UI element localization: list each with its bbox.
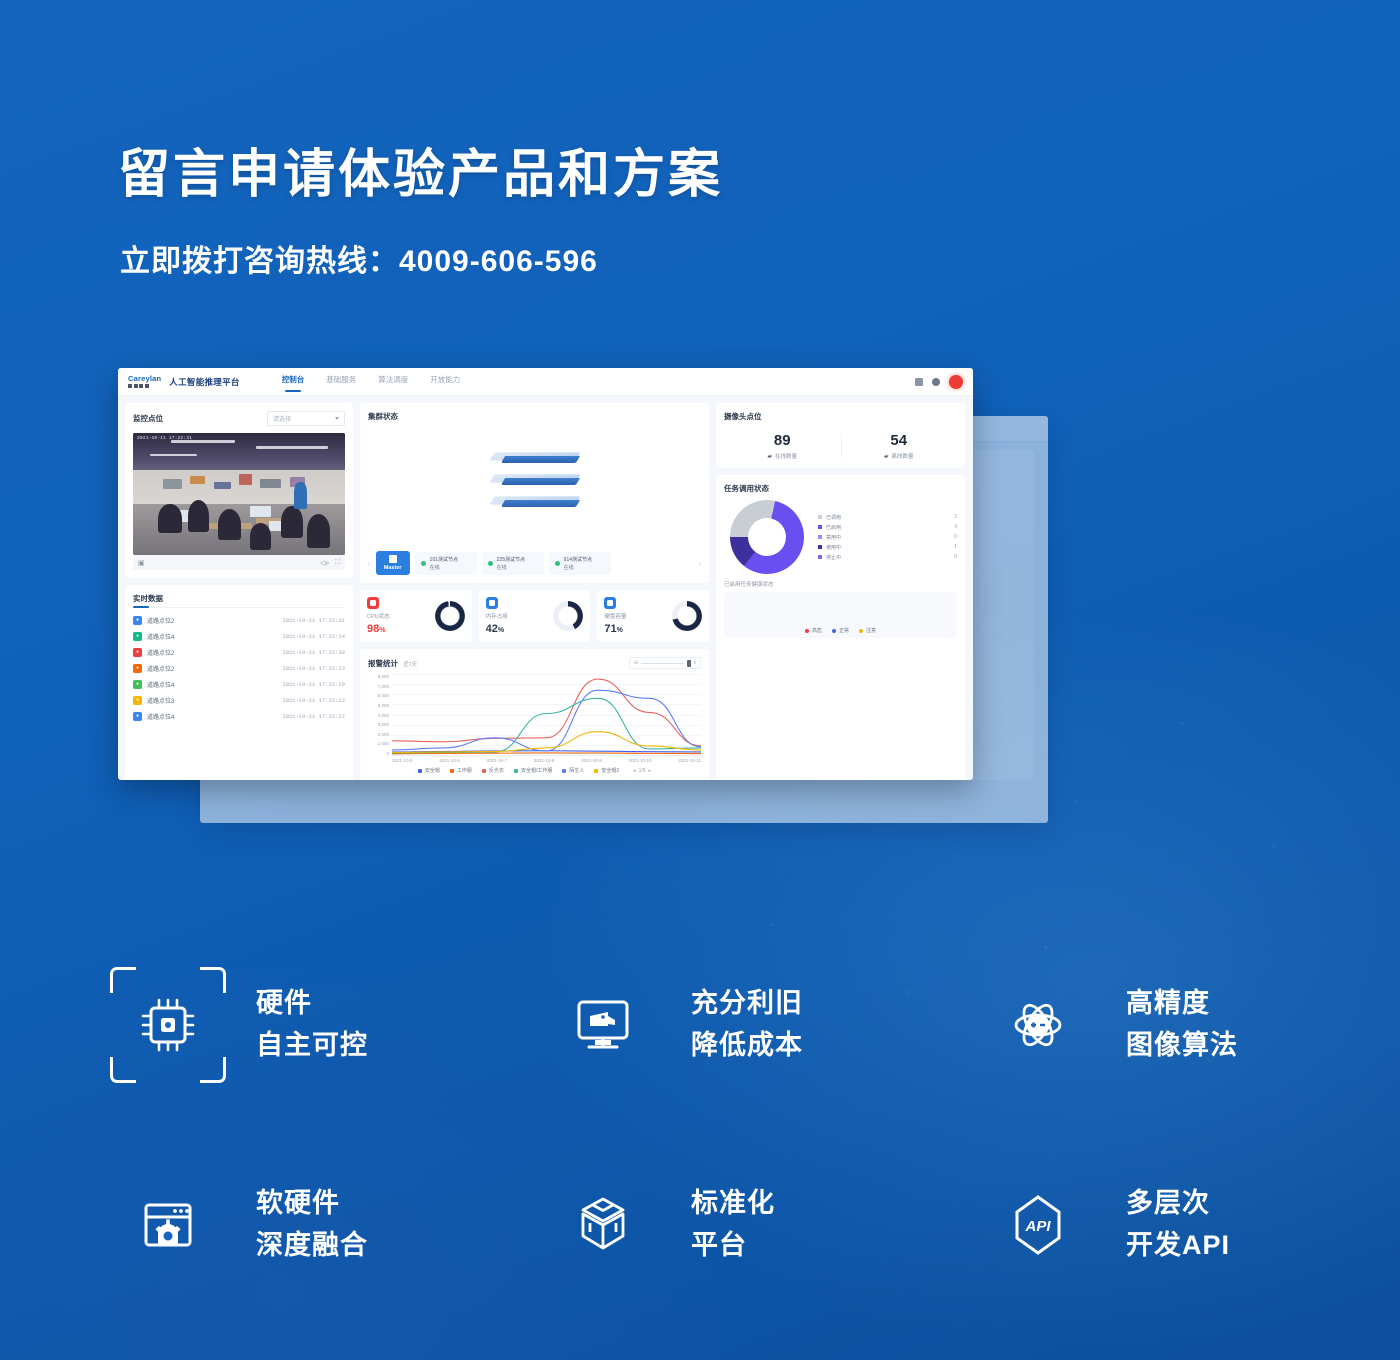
cube-icon	[545, 1167, 661, 1283]
axis-tick-label: 3,000	[368, 722, 389, 727]
chart-series-line	[392, 679, 701, 746]
task-status-panel: 任务调用状态 已调用2已启用4禁用中0使用中1停止中0 已启用任务健康状态 高危…	[716, 475, 965, 780]
legend-item[interactable]: 安全帽/工作服	[514, 767, 552, 774]
stat-block: 89▰在线数量	[724, 432, 841, 460]
legend-swatch	[818, 535, 822, 539]
cluster-panel: 集群状态 ‹Master101测试节点在线225测试节点在线914测试节点在线›	[360, 403, 709, 583]
legend-label: 工作服	[457, 767, 472, 774]
feature-line2: 自主可控	[256, 1025, 368, 1067]
task-donut-legend: 已调用2已启用4禁用中0使用中1停止中0	[818, 512, 957, 562]
legend-value: 4	[954, 524, 957, 530]
feature-item-integration: 软硬件 深度融合	[110, 1125, 545, 1325]
feature-line2: 深度融合	[256, 1225, 368, 1267]
feature-line1: 充分利旧	[691, 983, 803, 1025]
nav-item-openapi[interactable]: 开放能力	[430, 374, 460, 390]
list-item-label: 道路点位2	[147, 616, 174, 625]
node-label: 225测试节点	[497, 556, 525, 563]
axis-tick-label: 7,000	[368, 684, 389, 689]
cluster-node-master[interactable]: Master	[376, 551, 410, 575]
person-icon: ●	[133, 616, 142, 625]
legend-label: 正常	[839, 627, 849, 634]
list-item-time: 2021-10-11 17:22:27	[282, 713, 345, 720]
legend-label: 反光衣	[489, 767, 504, 774]
list-item-label: 道路点位2	[147, 664, 174, 673]
realtime-title: 实时数据	[133, 593, 345, 604]
feature-line2: 图像算法	[1126, 1025, 1238, 1067]
legend-swatch	[859, 629, 863, 633]
product-screenshot: Careylan 人工智能推理平台 控制台 基础服务 算法调度 开放能力	[118, 368, 1048, 823]
stat-value: 54	[841, 432, 958, 449]
chart-x-axis: 2021-10-52021-10-62021-10-72021-10-82021…	[392, 758, 701, 763]
health-legend: 高危正常注意	[724, 627, 957, 634]
realtime-panel: 实时数据 ●道路点位22021-10-11 17:22:31●道路点位42021…	[125, 585, 353, 780]
monitor-panel: 监控点位 请选择	[125, 403, 353, 578]
close-icon[interactable]	[949, 375, 963, 389]
cluster-node[interactable]: 101测试节点在线	[415, 552, 477, 575]
metrics-row: CPU状态98%内存占用42%硬盘容量71%	[360, 590, 709, 642]
camera-monitor-icon	[545, 967, 661, 1083]
feature-grid: 硬件 自主可控 充分利旧	[110, 925, 1290, 1325]
legend-swatch	[805, 629, 809, 633]
task-status-title: 任务调用状态	[724, 483, 957, 494]
list-item-label: 道路点位3	[147, 696, 174, 705]
app-window: Careylan 人工智能推理平台 控制台 基础服务 算法调度 开放能力	[118, 368, 973, 780]
axis-tick-label: 1,000	[368, 741, 389, 746]
list-item-time: 2021-10-11 17:22:30	[282, 649, 345, 656]
cluster-node[interactable]: 914测试节点在线	[549, 552, 611, 575]
feature-line2: 降低成本	[691, 1025, 803, 1067]
metric-label: 硬盘容量	[604, 612, 626, 620]
legend-swatch	[514, 769, 518, 773]
feature-item-api: API 多层次 开发API	[980, 1125, 1290, 1325]
legend-swatch	[482, 769, 486, 773]
list-item[interactable]: ●道路点位22021-10-11 17:22:30	[133, 644, 345, 660]
legend-item[interactable]: 反光衣	[482, 767, 504, 774]
feature-line1: 高精度	[1126, 983, 1238, 1025]
axis-tick-label: 2021-10-11	[678, 758, 701, 763]
maximize-icon[interactable]	[932, 378, 940, 386]
list-item-label: 道路点位2	[147, 648, 174, 657]
legend-item[interactable]: 工作服	[450, 767, 472, 774]
select-value: 请选择	[273, 414, 291, 423]
legend-label: 高危	[812, 627, 822, 634]
list-item[interactable]: ●道路点位22021-10-11 17:22:31	[133, 612, 345, 628]
node-label: 914测试节点	[564, 556, 592, 563]
legend-item: 使用中1	[818, 542, 957, 552]
legend-label: 安全帽	[425, 767, 440, 774]
vehicle-icon: ●	[133, 680, 142, 689]
snapshot-icon[interactable]: ▣	[138, 559, 145, 567]
list-item[interactable]: ●道路点位22021-10-11 17:22:23	[133, 660, 345, 676]
camera-online-icon: ▰	[767, 453, 772, 460]
chart-series-line	[392, 698, 701, 753]
chevron-down-icon	[335, 417, 339, 420]
metric-value: 42%	[486, 623, 508, 635]
chevron-left-icon[interactable]: ‹	[368, 559, 371, 568]
line-chart: 8,0007,0006,0005,0004,0003,0002,0001,000…	[368, 674, 701, 756]
volume-icon[interactable]: ◁»	[320, 559, 329, 567]
list-item-time: 2021-10-11 17:22:22	[282, 697, 345, 704]
cluster-node[interactable]: 225测试节点在线	[482, 552, 544, 575]
axis-tick-label: 4,000	[368, 713, 389, 718]
minimize-icon[interactable]	[915, 378, 923, 386]
chart-range-slider[interactable]: ⊖ x	[629, 657, 701, 669]
video-timestamp: 2021-10-11 17:22:31	[137, 436, 192, 441]
nav-item-services[interactable]: 基础服务	[326, 374, 356, 390]
atom-icon	[980, 967, 1096, 1083]
node-label: 101测试节点	[430, 556, 458, 563]
legend-pagination[interactable]: ◂1/5▸	[633, 768, 651, 774]
legend-item: 禁用中0	[818, 532, 957, 542]
camera-stats-title: 摄像头点位	[724, 411, 957, 422]
window-controls	[915, 375, 963, 389]
feature-line2: 开发API	[1126, 1225, 1230, 1267]
metric-ring-gauge	[435, 601, 465, 631]
legend-item: 停止中0	[818, 552, 957, 562]
legend-value: 1	[954, 544, 957, 550]
window-gear-icon	[110, 1167, 226, 1283]
warning-icon: ●	[133, 696, 142, 705]
feature-item-reuse: 充分利旧 降低成本	[545, 925, 980, 1125]
logo-text: Careylan	[128, 375, 161, 383]
logo: Careylan	[128, 375, 161, 388]
app-topbar: Careylan 人工智能推理平台 控制台 基础服务 算法调度 开放能力	[118, 368, 973, 396]
cluster-node-list[interactable]: ‹Master101测试节点在线225测试节点在线914测试节点在线›	[368, 551, 701, 575]
list-item-time: 2021-10-11 17:22:31	[282, 617, 345, 624]
axis-tick-label: 2021-10-10	[628, 758, 651, 763]
metric-label: CPU状态	[367, 612, 390, 620]
legend-swatch	[832, 629, 836, 633]
stat-label: 离线数量	[892, 452, 914, 460]
list-item[interactable]: ●道路点位42021-10-11 17:22:24	[133, 628, 345, 644]
fire-icon: ●	[133, 664, 142, 673]
feature-line1: 多层次	[1126, 1183, 1230, 1225]
server-icon	[389, 555, 397, 563]
legend-item[interactable]: 安全帽	[418, 767, 440, 774]
axis-tick-label: 2021-10-7	[487, 758, 508, 763]
axis-tick-label: 2021-10-8	[534, 758, 555, 763]
list-item-time: 2021-10-11 17:22:24	[282, 633, 345, 640]
legend-label: 停止中	[826, 554, 841, 561]
metric-card: CPU状态98%	[360, 590, 472, 642]
chart-y-axis: 8,0007,0006,0005,0004,0003,0002,0001,000…	[368, 674, 392, 756]
axis-tick-label: 0	[368, 751, 389, 756]
legend-label: 已启用	[826, 524, 841, 531]
legend-swatch	[450, 769, 454, 773]
stat-value: 89	[724, 432, 841, 449]
nav-item-scheduling[interactable]: 算法调度	[378, 374, 408, 390]
video-toolbar: ▣ ◁» ⛶	[133, 555, 345, 570]
axis-tick-label: 2,000	[368, 732, 389, 737]
memory-icon	[486, 597, 498, 609]
chevron-right-icon[interactable]: ›	[698, 559, 701, 568]
chart-subtitle: 近7天	[403, 660, 417, 668]
legend-label: 已调用	[826, 514, 841, 521]
status-dot-icon	[555, 561, 560, 566]
list-item-label: 道路点位4	[147, 712, 174, 721]
legend-label: 陌生人	[569, 767, 584, 774]
page-title: 留言申请体验产品和方案	[118, 132, 723, 207]
chart-title: 报警统计	[368, 658, 398, 669]
node-status: 在线	[497, 564, 525, 571]
cluster-title: 集群状态	[368, 411, 701, 422]
axis-tick-label: 6,000	[368, 693, 389, 698]
legend-item: 注意	[859, 627, 876, 634]
legend-swatch	[818, 525, 822, 529]
legend-swatch	[594, 769, 598, 773]
list-item-time: 2021-10-11 17:22:23	[282, 665, 345, 672]
svg-text:API: API	[1024, 1218, 1051, 1235]
cpu-icon	[367, 597, 379, 609]
smoke-icon: ●	[133, 648, 142, 657]
monitor-title: 监控点位	[133, 413, 163, 424]
feature-line1: 软硬件	[256, 1183, 368, 1225]
task-donut-chart	[730, 500, 804, 574]
zoom-out-icon[interactable]: ⊖	[634, 660, 638, 666]
node-status: 在线	[564, 564, 592, 571]
feature-item-algorithm: 高精度 图像算法	[980, 925, 1290, 1125]
api-hexagon-icon: API	[980, 1167, 1096, 1283]
legend-item: 高危	[805, 627, 822, 634]
list-item[interactable]: ●道路点位42021-10-11 17:22:29	[133, 676, 345, 692]
metric-value: 71%	[604, 623, 626, 635]
legend-item[interactable]: 陌生人	[562, 767, 584, 774]
stat-block: 54▰离线数量	[841, 432, 958, 460]
legend-item: 已启用4	[818, 522, 957, 532]
chevron-right-icon[interactable]: ▸	[649, 768, 652, 774]
monitor-point-select[interactable]: 请选择	[267, 411, 345, 426]
chart-series-line	[392, 753, 701, 754]
legend-swatch	[818, 515, 822, 519]
feature-line1: 标准化	[691, 1183, 775, 1225]
disk-icon	[604, 597, 616, 609]
node-status: 在线	[430, 564, 458, 571]
node-label: Master	[384, 565, 402, 571]
legend-label: 使用中	[826, 544, 841, 551]
fullscreen-icon[interactable]: ⛶	[335, 559, 340, 567]
chart-legend[interactable]: 安全帽工作服反光衣安全帽/工作服陌生人安全帽2◂1/5▸	[368, 767, 701, 774]
helmet-icon: ●	[133, 632, 142, 641]
feature-line1: 硬件	[256, 983, 368, 1025]
chip-icon	[110, 967, 226, 1083]
list-item[interactable]: ●道路点位42021-10-11 17:22:27	[133, 708, 345, 724]
health-title: 已启用任务健康状态	[724, 580, 957, 588]
hotline-text: 立即拨打咨询热线：4009-606-596	[120, 236, 598, 280]
slider-right-label: x	[694, 660, 697, 666]
legend-swatch	[818, 545, 822, 549]
metric-value: 98%	[367, 623, 390, 635]
axis-tick-label: 2021-10-9	[581, 758, 602, 763]
chart-plot-area	[392, 674, 701, 756]
slider-handle[interactable]	[687, 660, 691, 667]
legend-swatch	[562, 769, 566, 773]
list-item-label: 道路点位4	[147, 680, 174, 689]
axis-tick-label: 5,000	[368, 703, 389, 708]
server-stack-icon	[492, 449, 578, 515]
list-item-label: 道路点位4	[147, 632, 174, 641]
legend-label: 安全帽2	[601, 767, 619, 774]
metric-ring-gauge	[672, 601, 702, 631]
legend-label: 注意	[866, 627, 876, 634]
legend-item: 已调用2	[818, 512, 957, 522]
axis-tick-label: 2021-10-6	[439, 758, 460, 763]
metric-ring-gauge	[553, 601, 583, 631]
legend-value: 0	[954, 534, 957, 540]
main-nav: 控制台 基础服务 算法调度 开放能力	[282, 374, 461, 390]
legend-value: 0	[954, 554, 957, 560]
status-dot-icon	[421, 561, 426, 566]
camera-offline-icon: ▰	[884, 453, 889, 460]
feature-line2: 平台	[691, 1225, 775, 1267]
pagination-label: 1/5	[639, 768, 646, 774]
metric-card: 硬盘容量71%	[597, 590, 709, 642]
status-dot-icon	[488, 561, 493, 566]
video-feed[interactable]: 2021-10-11 17:22:31	[133, 433, 345, 555]
legend-item: 正常	[832, 627, 849, 634]
legend-swatch	[418, 769, 422, 773]
feature-item-platform: 标准化 平台	[545, 1125, 980, 1325]
alarm-chart-panel: 报警统计 近7天 ⊖ x 8,0007,0006,0005,00	[360, 649, 709, 780]
logo-squares-icon	[128, 384, 161, 388]
person-icon: ●	[133, 712, 142, 721]
health-chart: 高危正常注意	[724, 592, 957, 638]
metric-card: 内存占用42%	[479, 590, 591, 642]
nav-item-console[interactable]: 控制台	[282, 374, 305, 390]
list-item[interactable]: ●道路点位32021-10-11 17:22:22	[133, 692, 345, 708]
legend-swatch	[818, 555, 822, 559]
axis-tick-label: 8,000	[368, 674, 389, 679]
legend-label: 禁用中	[826, 534, 841, 541]
stat-label: 在线数量	[775, 452, 797, 460]
list-item-time: 2021-10-11 17:22:29	[282, 681, 345, 688]
legend-item[interactable]: 安全帽2	[594, 767, 619, 774]
brand-name: 人工智能推理平台	[169, 376, 239, 388]
feature-item-hardware: 硬件 自主可控	[110, 925, 545, 1125]
metric-label: 内存占用	[486, 612, 508, 620]
camera-stats-panel: 摄像头点位 89▰在线数量54▰离线数量	[716, 403, 965, 468]
legend-value: 2	[954, 514, 957, 520]
axis-tick-label: 2021-10-5	[392, 758, 413, 763]
chevron-left-icon[interactable]: ◂	[633, 768, 636, 774]
legend-label: 安全帽/工作服	[521, 767, 552, 774]
realtime-list[interactable]: ●道路点位22021-10-11 17:22:31●道路点位42021-10-1…	[133, 612, 345, 724]
